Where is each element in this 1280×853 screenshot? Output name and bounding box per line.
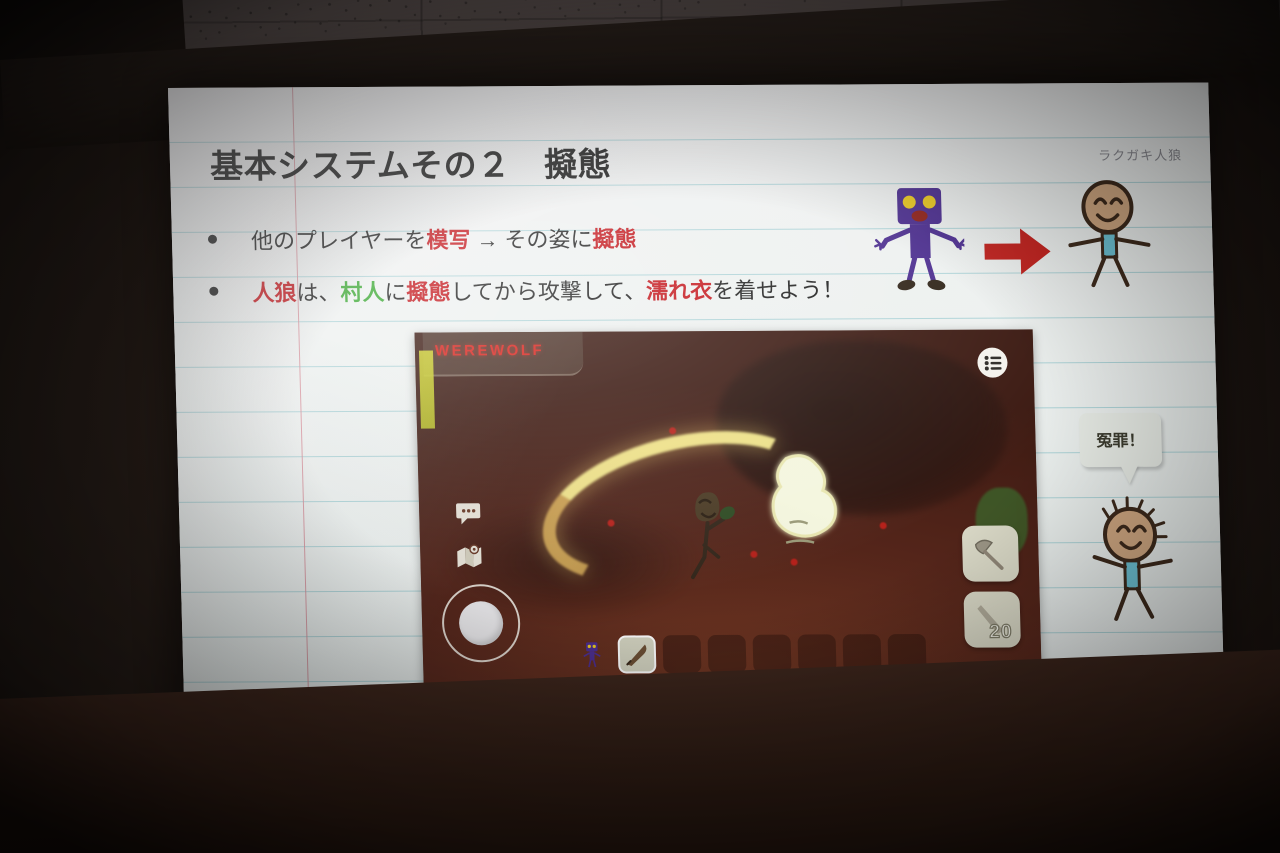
bullet-item: 他のプレイヤーを 模写 → その姿に 擬態 <box>208 222 637 256</box>
transform-arrow-icon <box>982 225 1053 277</box>
map-icon[interactable] <box>456 544 483 570</box>
speech-bubble-tail <box>1120 465 1139 484</box>
bullet-segment-highlight: 濡れ衣 <box>646 273 713 305</box>
bullet-dot-icon <box>208 235 217 244</box>
hotbar-slot-empty[interactable] <box>662 635 701 673</box>
tool-button[interactable] <box>962 525 1019 581</box>
bullet-segment: を着せよう！ <box>712 272 845 305</box>
page-title: 基本システムその２ 擬態 <box>209 138 611 188</box>
game-status-bar <box>419 351 435 429</box>
hotbar-slot-avatar[interactable] <box>572 636 611 674</box>
chat-icon[interactable] <box>455 500 482 526</box>
arrow-glyph: → <box>470 227 505 253</box>
werewolf-character-illustration <box>871 184 966 296</box>
blood-particle <box>669 427 676 434</box>
room-photo: 基本システムその２ 擬態 ラクガキ人狼 他のプレイヤーを 模写 → その姿に 擬… <box>0 0 1280 853</box>
list-menu-icon[interactable] <box>977 348 1008 378</box>
game-character-tree <box>677 483 744 587</box>
item-count-button[interactable]: 20 <box>963 591 1020 647</box>
virtual-joystick[interactable] <box>441 584 521 662</box>
blood-particle <box>791 559 798 566</box>
joystick-knob[interactable] <box>459 601 504 645</box>
bullet-segment: に <box>384 275 407 307</box>
blood-particle <box>880 522 887 529</box>
blood-particle <box>607 520 614 527</box>
bullet-segment: してから攻撃して、 <box>450 273 646 306</box>
hotbar-slot-empty[interactable] <box>753 635 792 673</box>
bullet-segment-highlight: 人狼 <box>252 275 297 307</box>
hotbar-slot-empty[interactable] <box>708 635 747 673</box>
item-count-label: 20 <box>989 621 1013 643</box>
brand-logo: ラクガキ人狼 <box>1098 145 1183 164</box>
bullet-segment: 他のプレイヤーを <box>251 223 427 256</box>
projection-screen: 基本システムその２ 擬態 ラクガキ人狼 他のプレイヤーを 模写 → その姿に 擬… <box>168 83 1225 738</box>
blood-particle <box>750 551 757 558</box>
game-screenshot: WEREWOLF <box>414 329 1041 684</box>
role-label: WEREWOLF <box>435 342 545 360</box>
hotbar-slot-sword[interactable] <box>617 635 656 673</box>
bullet-dot-icon <box>209 287 218 296</box>
bullet-segment-highlight: 模写 <box>426 222 471 254</box>
bullet-segment-highlight: 擬態 <box>592 222 637 254</box>
bullet-segment: その姿に <box>504 222 593 254</box>
presentation-slide: 基本システムその２ 擬態 ラクガキ人狼 他のプレイヤーを 模写 → その姿に 擬… <box>168 83 1225 738</box>
villager-character-illustration <box>1061 179 1156 291</box>
bullet-item: 人狼 は、 村人 に 擬態 してから攻撃して、 濡れ衣 を着せよう！ <box>209 272 845 307</box>
bullet-segment-highlight: 擬態 <box>406 274 451 306</box>
game-character-glowing <box>748 450 863 583</box>
bullet-segment-highlight: 村人 <box>340 275 385 307</box>
bullet-segment: は、 <box>296 275 341 307</box>
villager-character-illustration-spiky <box>1079 495 1182 625</box>
speech-bubble-text: 冤罪！ <box>1079 413 1162 467</box>
speech-bubble: 冤罪！ <box>1079 413 1162 467</box>
